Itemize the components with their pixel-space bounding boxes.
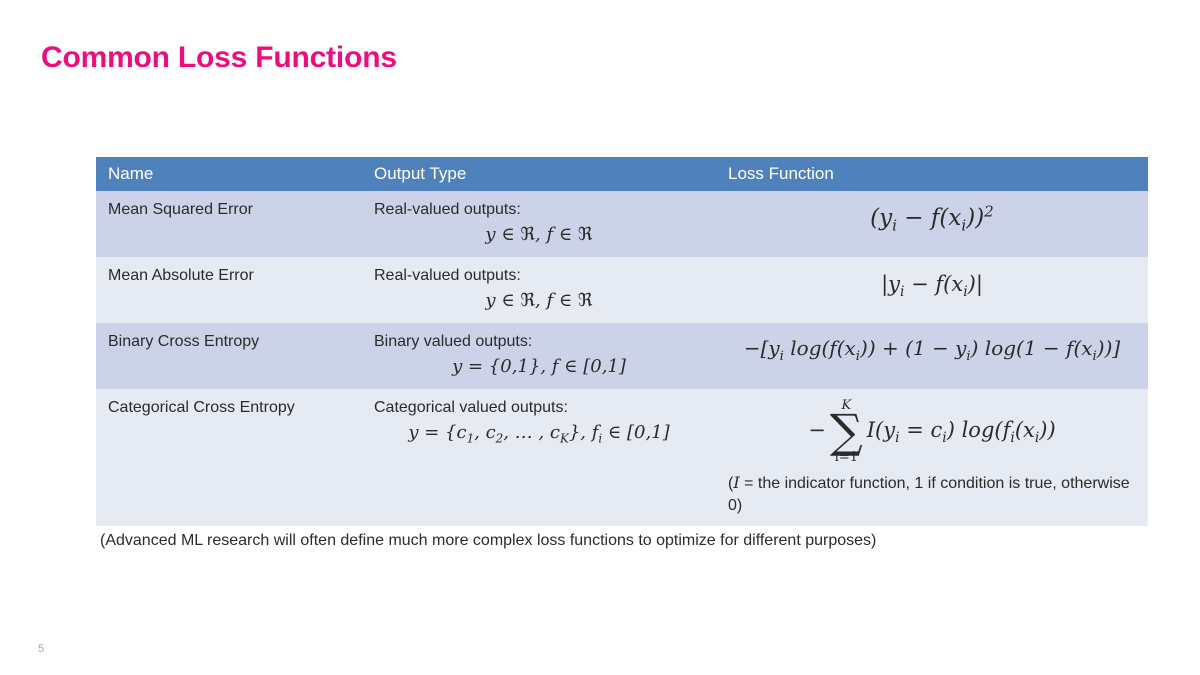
- output-type-math: y = {c1, c2, … , cK}, fi ∈ [0,1]: [374, 421, 704, 445]
- formula-bce: −[yi log(f(xi)) + (1 − yi) log(1 − f(xi)…: [728, 331, 1136, 361]
- page-title: Common Loss Functions: [41, 41, 397, 75]
- row-loss-function-binary-cross-entropy: −[yi log(f(xi)) + (1 − yi) log(1 − f(xi)…: [716, 323, 1148, 389]
- table-row: Binary Cross Entropy Binary valued outpu…: [96, 323, 1148, 389]
- output-type-text: Real-valued outputs:: [374, 199, 704, 220]
- output-type-text: Binary valued outputs:: [374, 331, 704, 352]
- output-type-math: y = {0,1}, f ∈ [0,1]: [374, 355, 704, 379]
- row-loss-function-mean-absolute-error: |yi − f(xi)|: [716, 257, 1148, 323]
- output-type-math: y ∈ ℜ, f ∈ ℜ: [374, 289, 704, 313]
- summation-lower-limit: i=1: [835, 451, 858, 464]
- summand: I(yi = ci) log(fi(xi)): [867, 417, 1056, 445]
- row-name-mean-absolute-error: Mean Absolute Error: [96, 257, 362, 323]
- column-header-output-type: Output Type: [362, 157, 716, 191]
- formula-mae: |yi − f(xi)|: [728, 265, 1136, 299]
- row-output-type-mean-squared-error: Real-valued outputs: y ∈ ℜ, f ∈ ℜ: [362, 191, 716, 257]
- footer-note: (Advanced ML research will often define …: [100, 532, 876, 550]
- indicator-function-note: (I = the indicator function, 1 if condit…: [728, 472, 1136, 516]
- formula-mse: (yi − f(xi))2: [728, 199, 1136, 233]
- summation-symbol: K ∑ i=1: [830, 399, 863, 465]
- row-loss-function-mean-squared-error: (yi − f(xi))2: [716, 191, 1148, 257]
- loss-functions-table: Name Output Type Loss Function Mean Squa…: [96, 157, 1148, 526]
- row-name-binary-cross-entropy: Binary Cross Entropy: [96, 323, 362, 389]
- row-name-categorical-cross-entropy: Categorical Cross Entropy: [96, 389, 362, 527]
- row-name-mean-squared-error: Mean Squared Error: [96, 191, 362, 257]
- table-row: Mean Squared Error Real-valued outputs: …: [96, 191, 1148, 257]
- row-loss-function-categorical-cross-entropy: − K ∑ i=1 I(yi = ci) log(fi(xi)) (I = th…: [716, 389, 1148, 527]
- row-output-type-mean-absolute-error: Real-valued outputs: y ∈ ℜ, f ∈ ℜ: [362, 257, 716, 323]
- formula-cce: − K ∑ i=1 I(yi = ci) log(fi(xi)): [728, 397, 1136, 465]
- row-output-type-binary-cross-entropy: Binary valued outputs: y = {0,1}, f ∈ [0…: [362, 323, 716, 389]
- output-type-math: y ∈ ℜ, f ∈ ℜ: [374, 223, 704, 247]
- table-header-row: Name Output Type Loss Function: [96, 157, 1148, 191]
- page-number: 5: [38, 643, 44, 655]
- row-output-type-categorical-cross-entropy: Categorical valued outputs: y = {c1, c2,…: [362, 389, 716, 527]
- table-row: Categorical Cross Entropy Categorical va…: [96, 389, 1148, 527]
- sigma-icon: ∑: [830, 412, 863, 452]
- output-type-text: Categorical valued outputs:: [374, 397, 704, 418]
- column-header-loss-function: Loss Function: [716, 157, 1148, 191]
- table-row: Mean Absolute Error Real-valued outputs:…: [96, 257, 1148, 323]
- output-type-text: Real-valued outputs:: [374, 265, 704, 286]
- column-header-name: Name: [96, 157, 362, 191]
- summation-expression: − K ∑ i=1 I(yi = ci) log(fi(xi)): [808, 397, 1055, 465]
